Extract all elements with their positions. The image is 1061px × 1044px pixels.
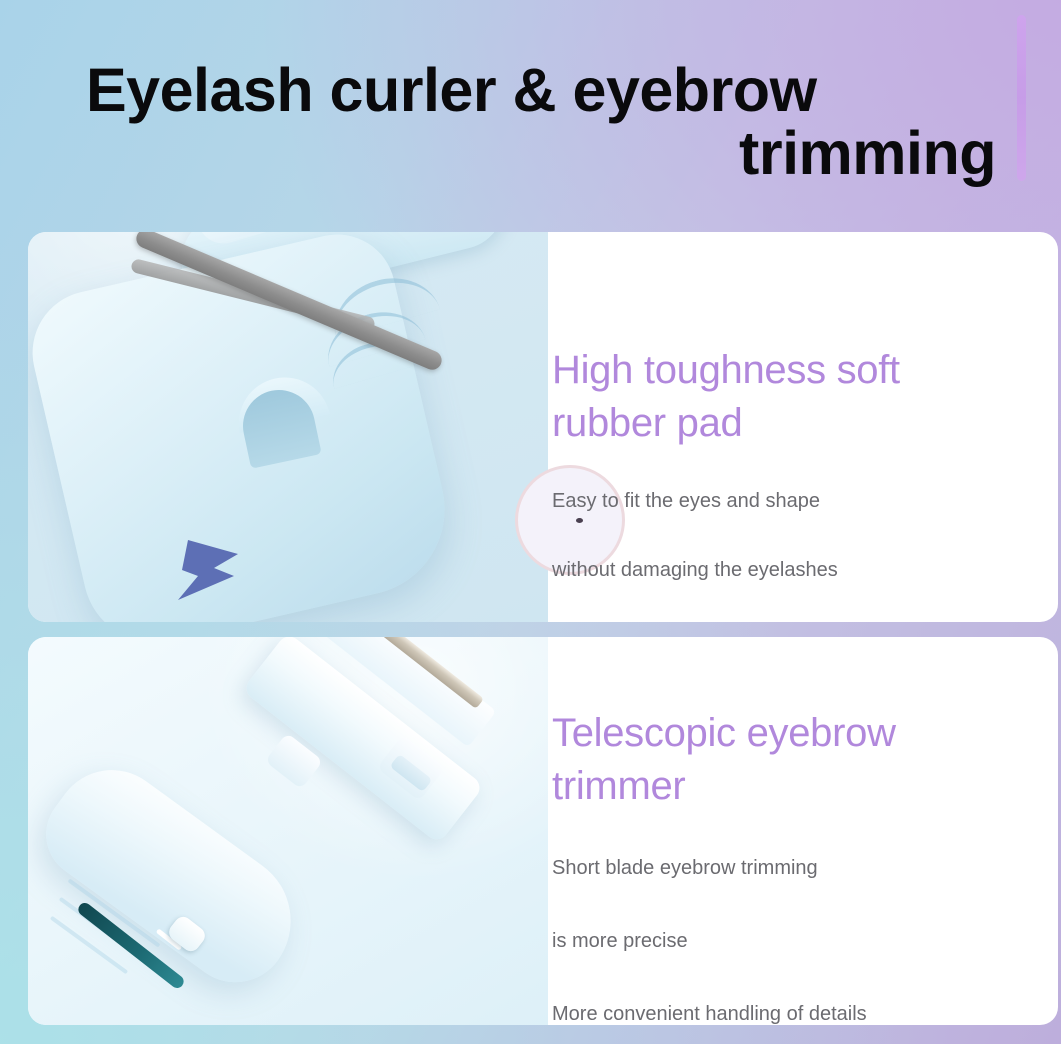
feature-body-line: Short blade eyebrow trimming (552, 851, 1022, 886)
feature-heading: Telescopic eyebrow trimmer (552, 707, 1022, 813)
product-feature-page: Eyelash curler & eyebrow trimming High t (0, 0, 1061, 1044)
feature-card-eyebrow-trimmer: Telescopic eyebrow trimmer Short blade e… (28, 637, 1058, 1025)
product-photo-eyebrow-trimmer (28, 637, 548, 1025)
feature-card-rubber-pad: High toughness soft rubber pad Easy to f… (28, 232, 1058, 622)
feature-text-block: Telescopic eyebrow trimmer Short blade e… (552, 707, 1022, 1025)
accent-bar-decoration (1017, 15, 1026, 181)
page-title-line-2: trimming (86, 122, 1006, 185)
feature-body-line: Easy to fit the eyes and shape (552, 484, 1022, 519)
page-title-line-1: Eyelash curler & eyebrow (86, 59, 1006, 122)
feature-heading: High toughness soft rubber pad (552, 344, 1022, 450)
page-title: Eyelash curler & eyebrow trimming (86, 59, 1006, 186)
product-photo-eyelash-curler (28, 232, 548, 622)
feature-body-line: is more precise (552, 924, 1022, 959)
lightning-bolt-icon (168, 534, 246, 606)
feature-text-block: High toughness soft rubber pad Easy to f… (552, 344, 1022, 588)
feature-body-line: without damaging the eyelashes (552, 553, 1022, 588)
feature-body-line: More convenient handling of details (552, 997, 1022, 1025)
